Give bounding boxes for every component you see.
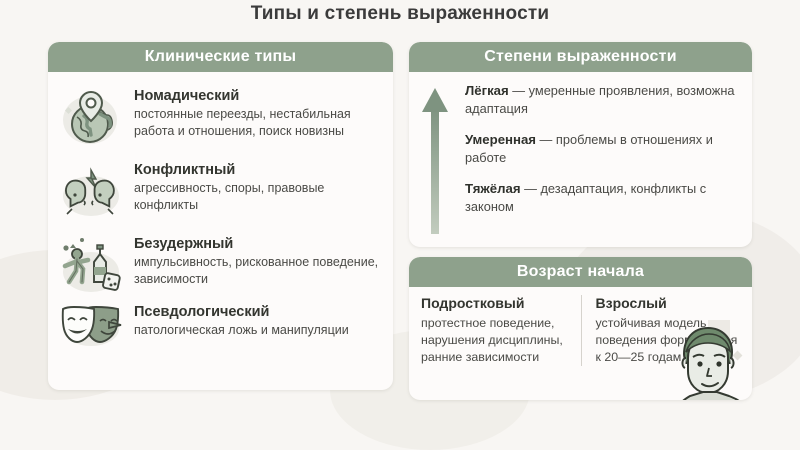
age-column-description: протестное поведение, нарушения дисципли… <box>421 315 571 366</box>
severity-dash: — <box>536 132 556 147</box>
clinical-types-header: Клинические типы <box>48 42 393 72</box>
severity-card: Степени выраженности Лёгкая — умеренные … <box>409 42 752 247</box>
type-name: Конфликтный <box>134 162 383 178</box>
type-description: патологическая ложь и манипуляции <box>134 322 383 339</box>
up-arrow-icon <box>419 82 453 241</box>
type-name: Безудержный <box>134 236 383 252</box>
severity-label: Тяжёлая <box>465 181 521 196</box>
age-column-description: устойчивая модель поведения формируется … <box>596 315 741 366</box>
type-description: постоянные переезды, нестабильная работа… <box>134 106 383 140</box>
type-description: импульсивность, рискованное поведение, з… <box>134 254 383 288</box>
list-item: Псевдологический патологическая ложь и м… <box>58 300 383 352</box>
list-item: Умеренная — проблемы в отношениях и рабо… <box>465 131 738 167</box>
type-description: агрессивность, споры, правовые конфликты <box>134 180 383 214</box>
list-item-text: Безудержный импульсивность, рискованное … <box>134 232 383 288</box>
age-column-name: Подростковый <box>421 295 571 311</box>
type-name: Псевдологический <box>134 304 383 320</box>
age-of-onset-card: Возраст начала Подростковый протестное п… <box>409 257 752 400</box>
arguing-heads-icon <box>58 158 124 224</box>
severity-list: Лёгкая — умеренные проявления, возможна … <box>465 82 738 241</box>
age-column-name: Взрослый <box>596 295 741 311</box>
list-item: Тяжёлая — дезадаптация, конфликты с зако… <box>465 180 738 216</box>
age-column-adolescent: Подростковый протестное поведение, наруш… <box>421 295 581 366</box>
severity-dash: — <box>521 181 541 196</box>
globe-pin-icon <box>58 84 124 150</box>
list-item-text: Конфликтный агрессивность, споры, правов… <box>134 158 383 214</box>
severity-dash: — <box>509 83 529 98</box>
age-of-onset-body: Подростковый протестное поведение, наруш… <box>409 287 752 366</box>
clinical-types-card: Клинические типы Номадический постоянные… <box>48 42 393 390</box>
severity-header: Степени выраженности <box>409 42 752 72</box>
list-item: Лёгкая — умеренные проявления, возможна … <box>465 82 738 118</box>
list-item: Безудержный импульсивность, рискованное … <box>58 232 383 298</box>
list-item: Конфликтный агрессивность, споры, правов… <box>58 158 383 224</box>
page-title: Типы и степень выраженности <box>0 3 800 25</box>
severity-label: Умеренная <box>465 132 536 147</box>
age-of-onset-header: Возраст начала <box>409 257 752 287</box>
severity-label: Лёгкая <box>465 83 509 98</box>
list-item-text: Псевдологический патологическая ложь и м… <box>134 300 383 339</box>
list-item: Номадический постоянные переезды, нестаб… <box>58 84 383 150</box>
age-column-adult: Взрослый устойчивая модель поведения фор… <box>581 295 741 366</box>
clinical-types-body: Номадический постоянные переезды, нестаб… <box>48 72 393 352</box>
list-item-text: Номадический постоянные переезды, нестаб… <box>134 84 383 140</box>
severity-body: Лёгкая — умеренные проявления, возможна … <box>409 72 752 241</box>
theater-masks-icon <box>58 300 124 352</box>
running-man-bottle-dice-icon <box>58 232 124 298</box>
type-name: Номадический <box>134 88 383 104</box>
